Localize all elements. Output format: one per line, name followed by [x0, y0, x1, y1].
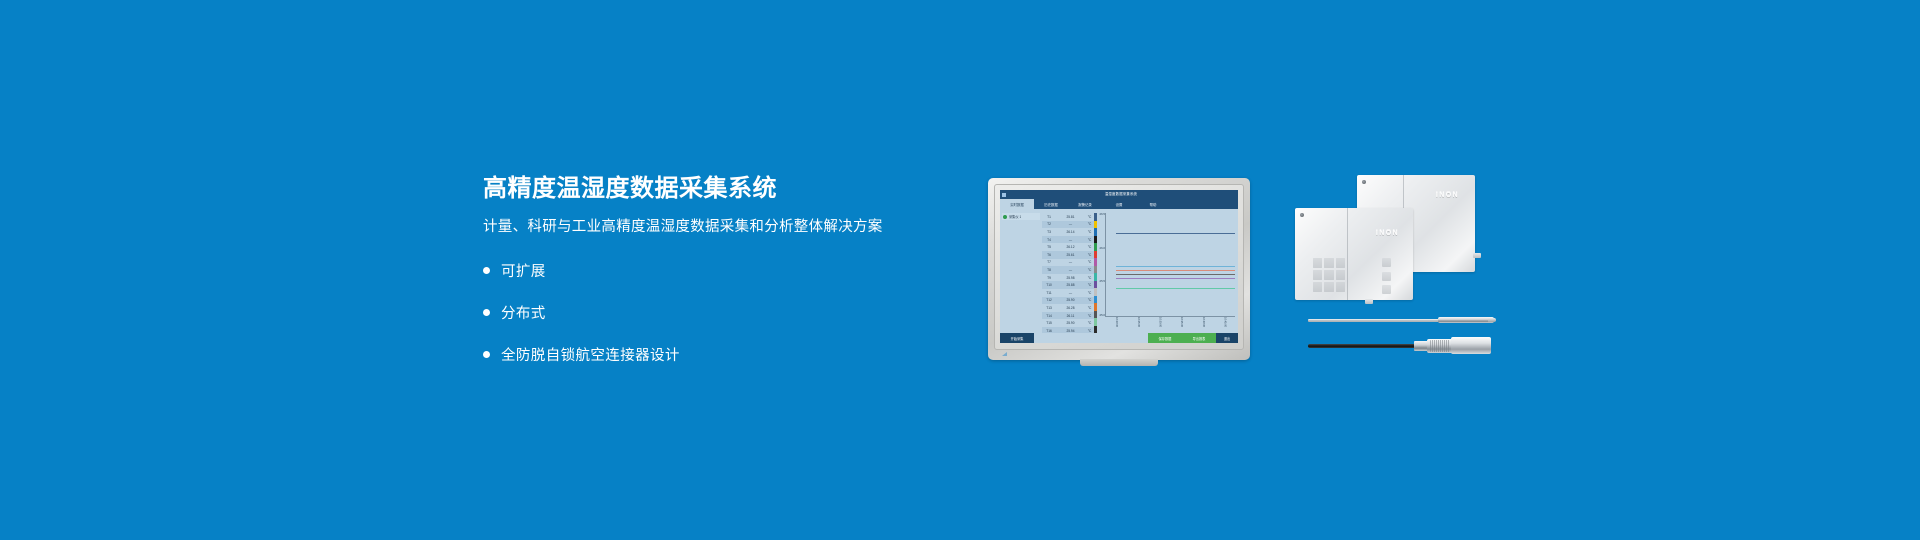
- channel-unit: °C: [1085, 276, 1094, 280]
- feature-item-1: 分布式: [483, 300, 953, 326]
- chart-y-axis: 26.526.025.525.0: [1097, 213, 1105, 317]
- chart-y-tick: 26.5: [1097, 213, 1105, 216]
- tree-node-label: 采集仪 1: [1009, 214, 1021, 219]
- app-body: 采集仪 1 T1 25.81 °C T2 — °C: [1000, 209, 1238, 333]
- module-mount-tab: [1473, 253, 1481, 258]
- bullet-dot-icon: [483, 351, 490, 358]
- tab-help[interactable]: 帮助: [1136, 199, 1170, 209]
- screw-icon: [1300, 213, 1304, 217]
- probe-tip: [1488, 318, 1496, 322]
- bullet-dot-icon: [483, 267, 490, 274]
- channel-id: T7: [1042, 260, 1056, 264]
- probe-cable: [1308, 344, 1420, 348]
- channel-unit: °C: [1085, 253, 1094, 257]
- app-titlebar: 温湿度数据采集系统: [1000, 190, 1238, 199]
- chart-y-tick: 26.0: [1097, 247, 1105, 250]
- channel-value: —: [1056, 291, 1085, 295]
- module-mount-tab: [1365, 299, 1373, 304]
- screw-icon: [1362, 180, 1366, 184]
- chart-y-tick: 25.0: [1097, 314, 1105, 317]
- channel-value: 26.28: [1056, 306, 1085, 310]
- table-row[interactable]: T15 25.90 °C: [1042, 319, 1094, 327]
- channel-value: 25.88: [1056, 283, 1085, 287]
- channel-id: T6: [1042, 253, 1056, 257]
- table-row[interactable]: T3 26.14 °C: [1042, 228, 1094, 236]
- chart-series-line: [1116, 278, 1235, 279]
- channel-unit: °C: [1085, 222, 1094, 226]
- connector-sockets: [1382, 258, 1391, 294]
- save-data-button[interactable]: 保存数据: [1148, 333, 1182, 343]
- device-tree-sidebar: 采集仪 1: [1000, 209, 1042, 333]
- table-row[interactable]: T7 — °C: [1042, 259, 1094, 267]
- chart-x-tick: 10:30:00: [1158, 317, 1161, 332]
- banner-copy-block: 高精度温湿度数据采集系统 计量、科研与工业高精度温湿度数据采集和分析整体解决方案…: [483, 176, 953, 384]
- port-cell: [1313, 258, 1322, 268]
- brand-logo: INON: [1436, 192, 1459, 199]
- channel-value: 25.90: [1056, 321, 1085, 325]
- exit-button[interactable]: 退出: [1216, 333, 1238, 343]
- channel-id: T13: [1042, 306, 1056, 310]
- start-acquisition-button[interactable]: 开始采集: [1000, 333, 1034, 343]
- tab-history-data[interactable]: 历史数据: [1034, 199, 1068, 209]
- port-cell: [1324, 270, 1333, 280]
- channel-table: T1 25.81 °C T2 — °C T3 26.14 °C: [1042, 209, 1094, 333]
- tab-settings[interactable]: 设置: [1102, 199, 1136, 209]
- channel-unit: °C: [1085, 215, 1094, 219]
- panel-seam: [1347, 208, 1348, 300]
- feature-label: 可扩展: [501, 260, 546, 281]
- channel-unit: °C: [1085, 291, 1094, 295]
- feature-item-0: 可扩展: [483, 258, 953, 284]
- acquisition-module-front: INON: [1295, 208, 1413, 300]
- channel-value: —: [1056, 238, 1085, 242]
- channel-unit: °C: [1085, 260, 1094, 264]
- channel-id: T2: [1042, 222, 1056, 226]
- feature-label: 分布式: [501, 302, 546, 323]
- channel-unit: °C: [1085, 238, 1094, 242]
- channel-unit: °C: [1085, 230, 1094, 234]
- port-cell: [1324, 282, 1333, 292]
- trend-chart: 26.526.025.525.0 10:20:0010:25:0010:30:0…: [1097, 209, 1238, 333]
- channel-unit: °C: [1085, 268, 1094, 272]
- monitor-bezel: 温湿度数据采集系统 实时数据 历史数据 报警记录 设置 帮助: [988, 178, 1250, 360]
- chart-x-tick: 10:35:00: [1180, 317, 1183, 332]
- table-row[interactable]: T8 — °C: [1042, 266, 1094, 274]
- channel-value: 25.90: [1056, 298, 1085, 302]
- channel-value: 26.12: [1056, 245, 1085, 249]
- channel-unit: °C: [1085, 245, 1094, 249]
- channel-id: T12: [1042, 298, 1056, 302]
- channel-value: 26.14: [1056, 230, 1085, 234]
- table-row[interactable]: T5 26.12 °C: [1042, 243, 1094, 251]
- monitor-stand-foot: [1080, 359, 1158, 366]
- chart-series-line: [1116, 266, 1235, 267]
- feature-list: 可扩展 分布式 全防脱自锁航空连接器设计: [483, 258, 953, 368]
- chart-x-tick: 10:40:00: [1201, 317, 1204, 332]
- tab-alarm-log[interactable]: 报警记录: [1068, 199, 1102, 209]
- tab-realtime-data[interactable]: 实时数据: [1000, 199, 1034, 209]
- probe-sensor-housing: [1451, 337, 1491, 354]
- chart-x-axis: 10:20:0010:25:0010:30:0010:35:0010:40:00…: [1105, 317, 1235, 332]
- channel-unit: °C: [1085, 298, 1094, 302]
- channel-id: T3: [1042, 230, 1056, 234]
- channel-unit: °C: [1085, 321, 1094, 325]
- channel-value: —: [1056, 222, 1085, 226]
- chart-y-tick: 25.5: [1097, 280, 1105, 283]
- chart-series-line: [1116, 270, 1235, 271]
- channel-unit: °C: [1085, 283, 1094, 287]
- app-title: 温湿度数据采集系统: [1006, 190, 1236, 199]
- sensor-probes-group: [1308, 310, 1498, 362]
- channel-value: 25.98: [1056, 276, 1085, 280]
- port-cell: [1336, 270, 1345, 280]
- table-row[interactable]: T12 25.90 °C: [1042, 297, 1094, 305]
- app-tabbar: 实时数据 历史数据 报警记录 设置 帮助: [1000, 199, 1238, 209]
- table-row[interactable]: T2 — °C: [1042, 221, 1094, 229]
- probe-sleeve: [1438, 317, 1494, 323]
- channel-id: T15: [1042, 321, 1056, 325]
- chart-x-tick: 10:20:00: [1115, 317, 1118, 332]
- channel-id: T10: [1042, 283, 1056, 287]
- connector-knurling: [1430, 340, 1450, 352]
- connector-socket: [1382, 285, 1391, 294]
- channel-unit: °C: [1085, 306, 1094, 310]
- channel-value: 25.61: [1056, 253, 1085, 257]
- channel-id: T1: [1042, 215, 1056, 219]
- device-online-icon: [1003, 215, 1007, 219]
- table-row[interactable]: T9 25.98 °C: [1042, 274, 1094, 282]
- feature-item-2: 全防脱自锁航空连接器设计: [483, 342, 953, 368]
- channel-value: 25.81: [1056, 215, 1085, 219]
- channel-value: 26.11: [1056, 314, 1085, 318]
- channel-value: —: [1056, 260, 1085, 264]
- channel-id: T14: [1042, 314, 1056, 318]
- bullet-dot-icon: [483, 309, 490, 316]
- port-cell: [1324, 258, 1333, 268]
- tree-node-device[interactable]: 采集仪 1: [1002, 213, 1040, 220]
- monitor-screen: 温湿度数据采集系统 实时数据 历史数据 报警记录 设置 帮助: [1000, 190, 1238, 343]
- channel-id: T8: [1042, 268, 1056, 272]
- channel-id: T11: [1042, 291, 1056, 295]
- chart-series-line: [1116, 288, 1235, 289]
- chart-x-tick: 10:25:00: [1136, 317, 1139, 332]
- chart-series-line: [1116, 233, 1235, 234]
- chart-plot-area: [1105, 213, 1235, 317]
- port-cell: [1313, 282, 1322, 292]
- export-report-button[interactable]: 导出报表: [1182, 333, 1216, 343]
- table-row[interactable]: T1 25.81 °C: [1042, 213, 1094, 221]
- chart-x-tick: 10:45:00: [1223, 317, 1226, 332]
- connector-socket: [1382, 258, 1391, 267]
- chart-series-line: [1116, 274, 1235, 275]
- connector-socket: [1382, 272, 1391, 281]
- aviation-connector-ring: [1414, 341, 1428, 351]
- channel-id: T9: [1042, 276, 1056, 280]
- terminal-block-ports: [1313, 258, 1345, 292]
- channel-unit: °C: [1085, 314, 1094, 318]
- port-cell: [1336, 258, 1345, 268]
- table-row[interactable]: T4 — °C: [1042, 236, 1094, 244]
- acquisition-modules-group: INON INON: [1295, 175, 1475, 300]
- table-row[interactable]: T13 26.28 °C: [1042, 304, 1094, 312]
- app-footer-toolbar: 开始采集 保存数据 导出报表 退出: [1000, 333, 1238, 343]
- page-subtitle: 计量、科研与工业高精度温湿度数据采集和分析整体解决方案: [483, 219, 953, 236]
- table-row[interactable]: T14 26.11 °C: [1042, 312, 1094, 320]
- channel-id: T4: [1042, 238, 1056, 242]
- panel-pc-monitor: 温湿度数据采集系统 实时数据 历史数据 报警记录 设置 帮助: [988, 178, 1250, 360]
- port-cell: [1336, 282, 1345, 292]
- table-row[interactable]: T6 25.61 °C: [1042, 251, 1094, 259]
- table-row[interactable]: T11 — °C: [1042, 289, 1094, 297]
- brand-logo: INON: [1376, 230, 1399, 237]
- channel-value: —: [1056, 268, 1085, 272]
- feature-label: 全防脱自锁航空连接器设计: [501, 344, 680, 365]
- channel-id: T5: [1042, 245, 1056, 249]
- port-cell: [1313, 270, 1322, 280]
- page-title: 高精度温湿度数据采集系统: [483, 176, 953, 202]
- footer-spacer: [1034, 333, 1148, 343]
- product-banner: 高精度温湿度数据采集系统 计量、科研与工业高精度温湿度数据采集和分析整体解决方案…: [0, 0, 1920, 540]
- monitor-brand-mark-icon: [1002, 352, 1007, 356]
- table-row[interactable]: T10 25.88 °C: [1042, 281, 1094, 289]
